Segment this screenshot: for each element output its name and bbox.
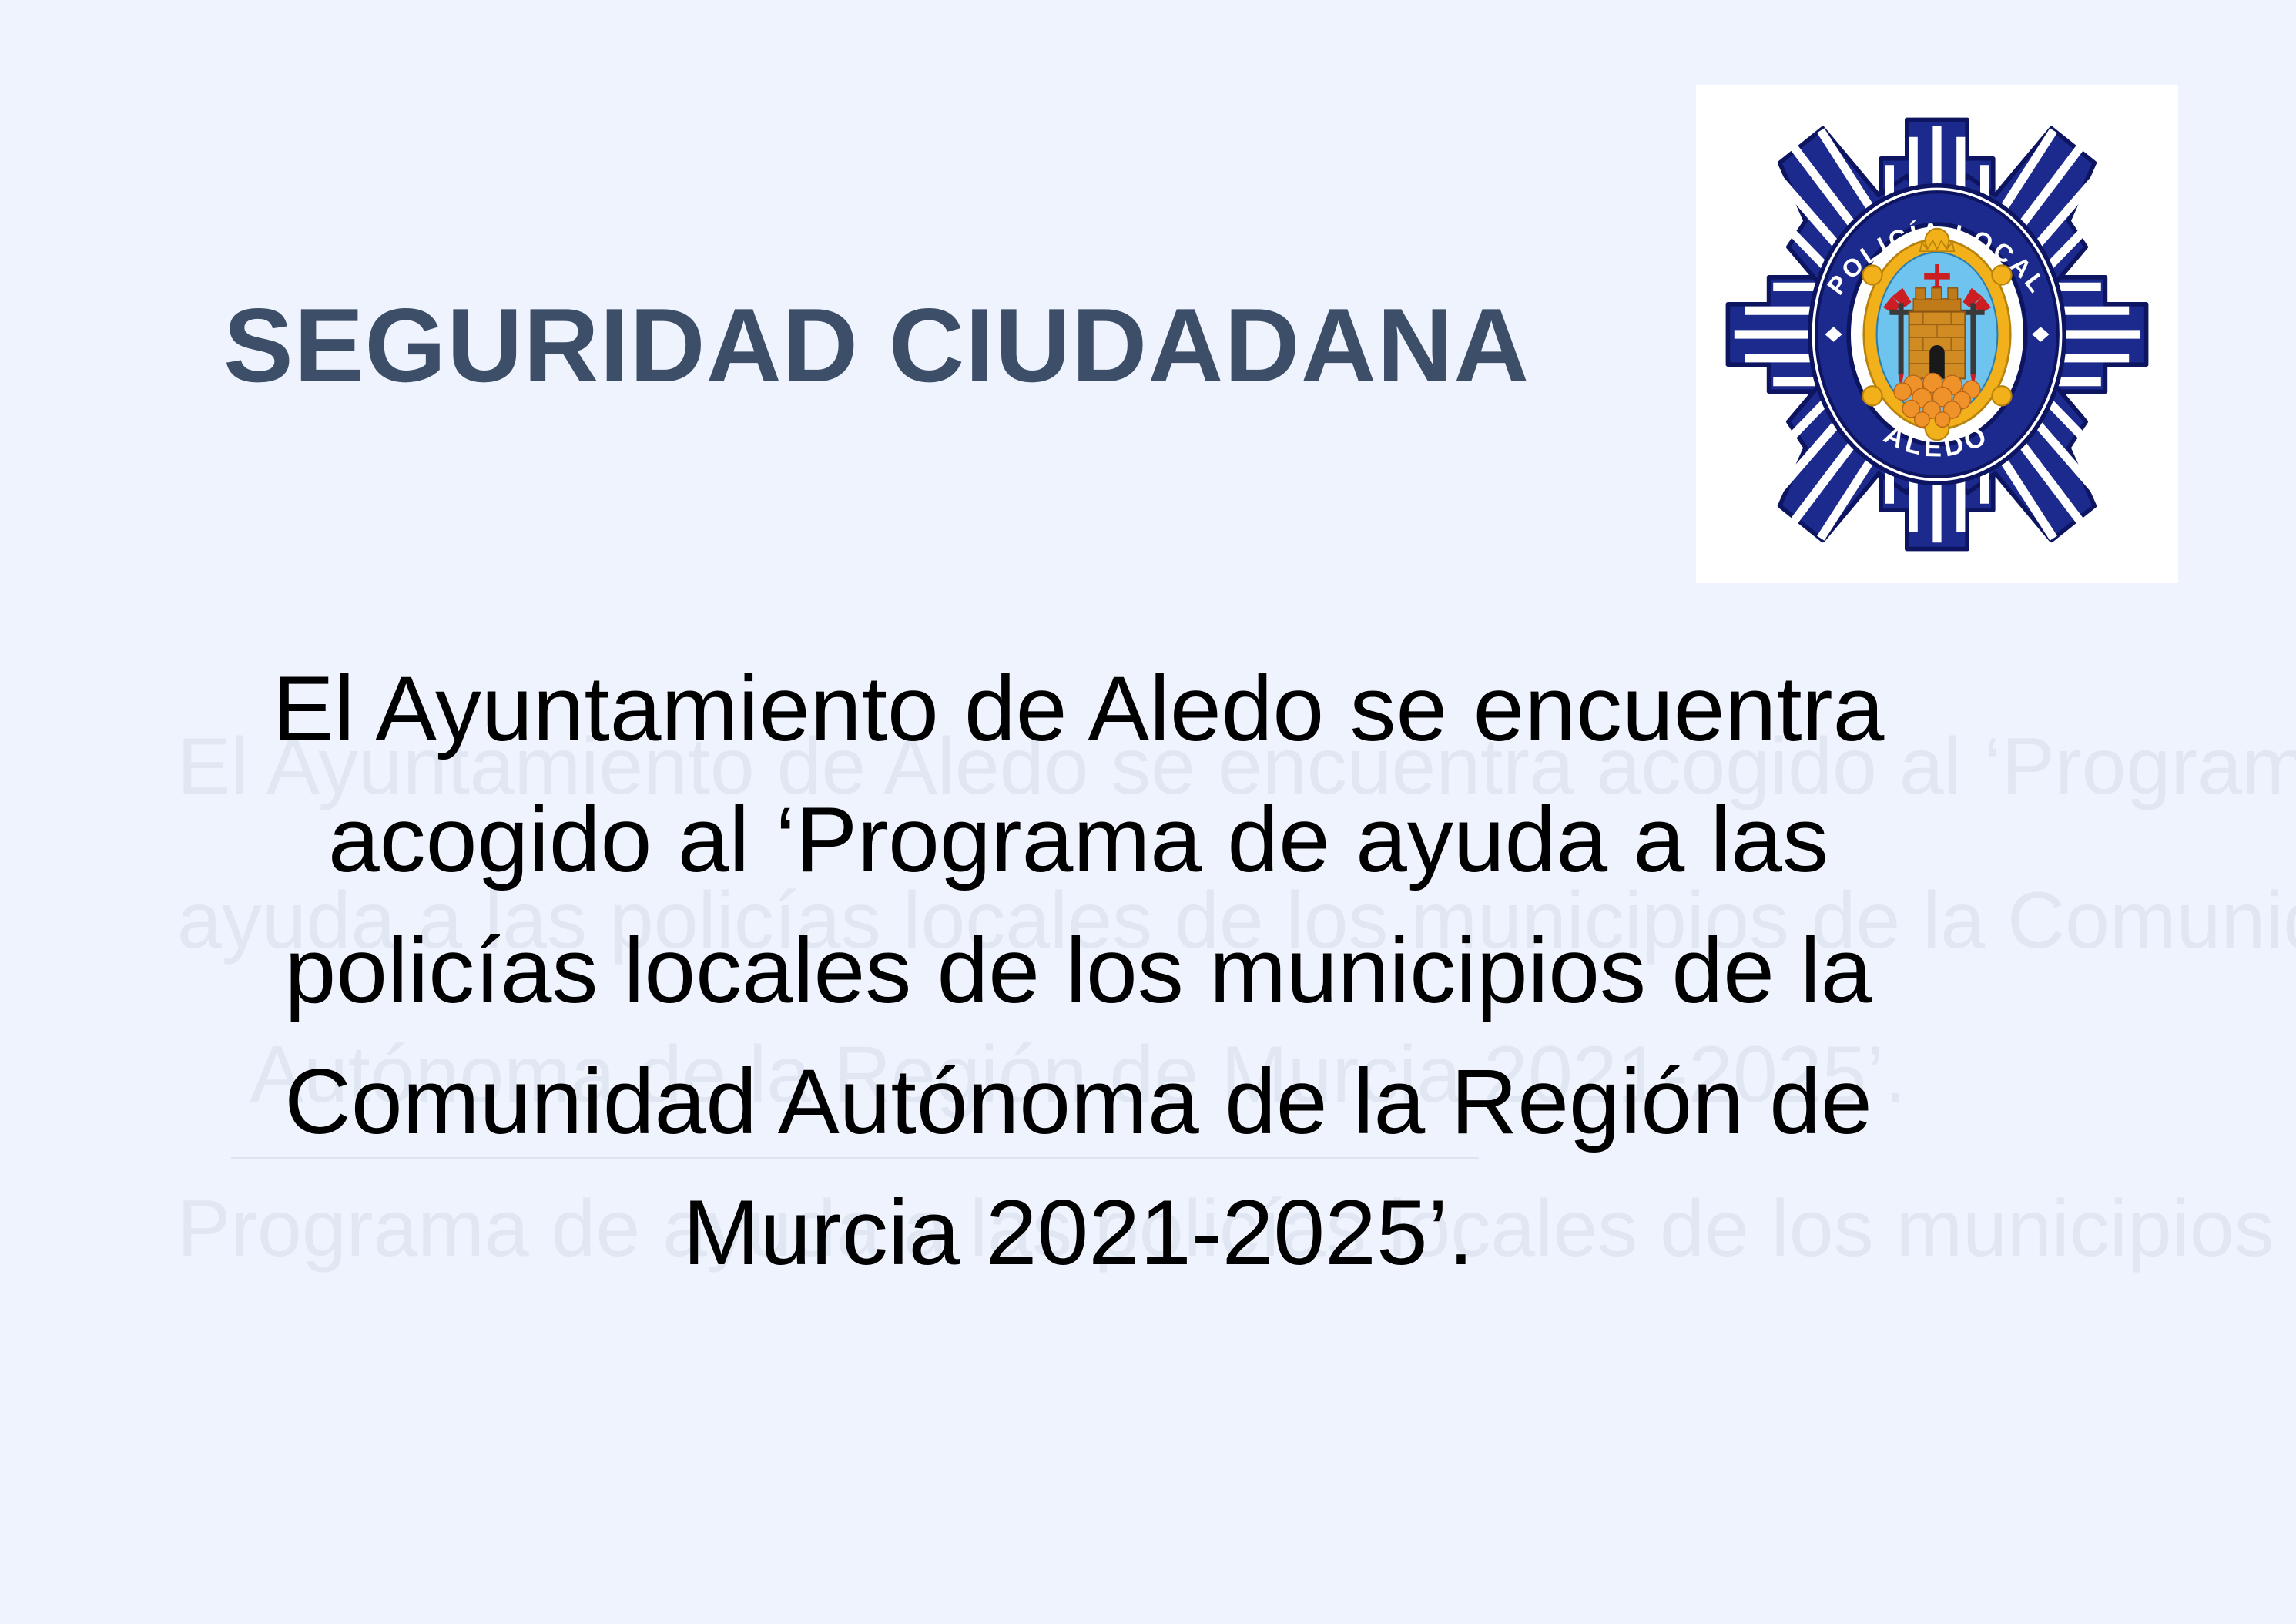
- body-line-2: acogido al ‘Programa de ayuda a las: [177, 774, 1979, 905]
- slide-canvas: El Ayuntamiento de Aledo se encuentra ac…: [0, 0, 2296, 1624]
- body-line-1: El Ayuntamiento de Aledo se encuentra: [177, 643, 1979, 774]
- page-title: SEGURIDAD CIUDADANA: [223, 293, 1533, 398]
- body-line-3: policías locales de los municipios de la: [177, 905, 1979, 1036]
- policia-local-badge-icon: POLICÍA LOCAL ALEDO: [1721, 111, 2153, 558]
- body-line-5: Murcia 2021-2025’.: [177, 1167, 1979, 1298]
- policia-local-aledo-logo: POLICÍA LOCAL ALEDO: [1696, 85, 2178, 583]
- body-paragraph: El Ayuntamiento de Aledo se encuentra ac…: [177, 643, 1979, 1298]
- body-line-4: Comunidad Autónoma de la Región de: [177, 1036, 1979, 1167]
